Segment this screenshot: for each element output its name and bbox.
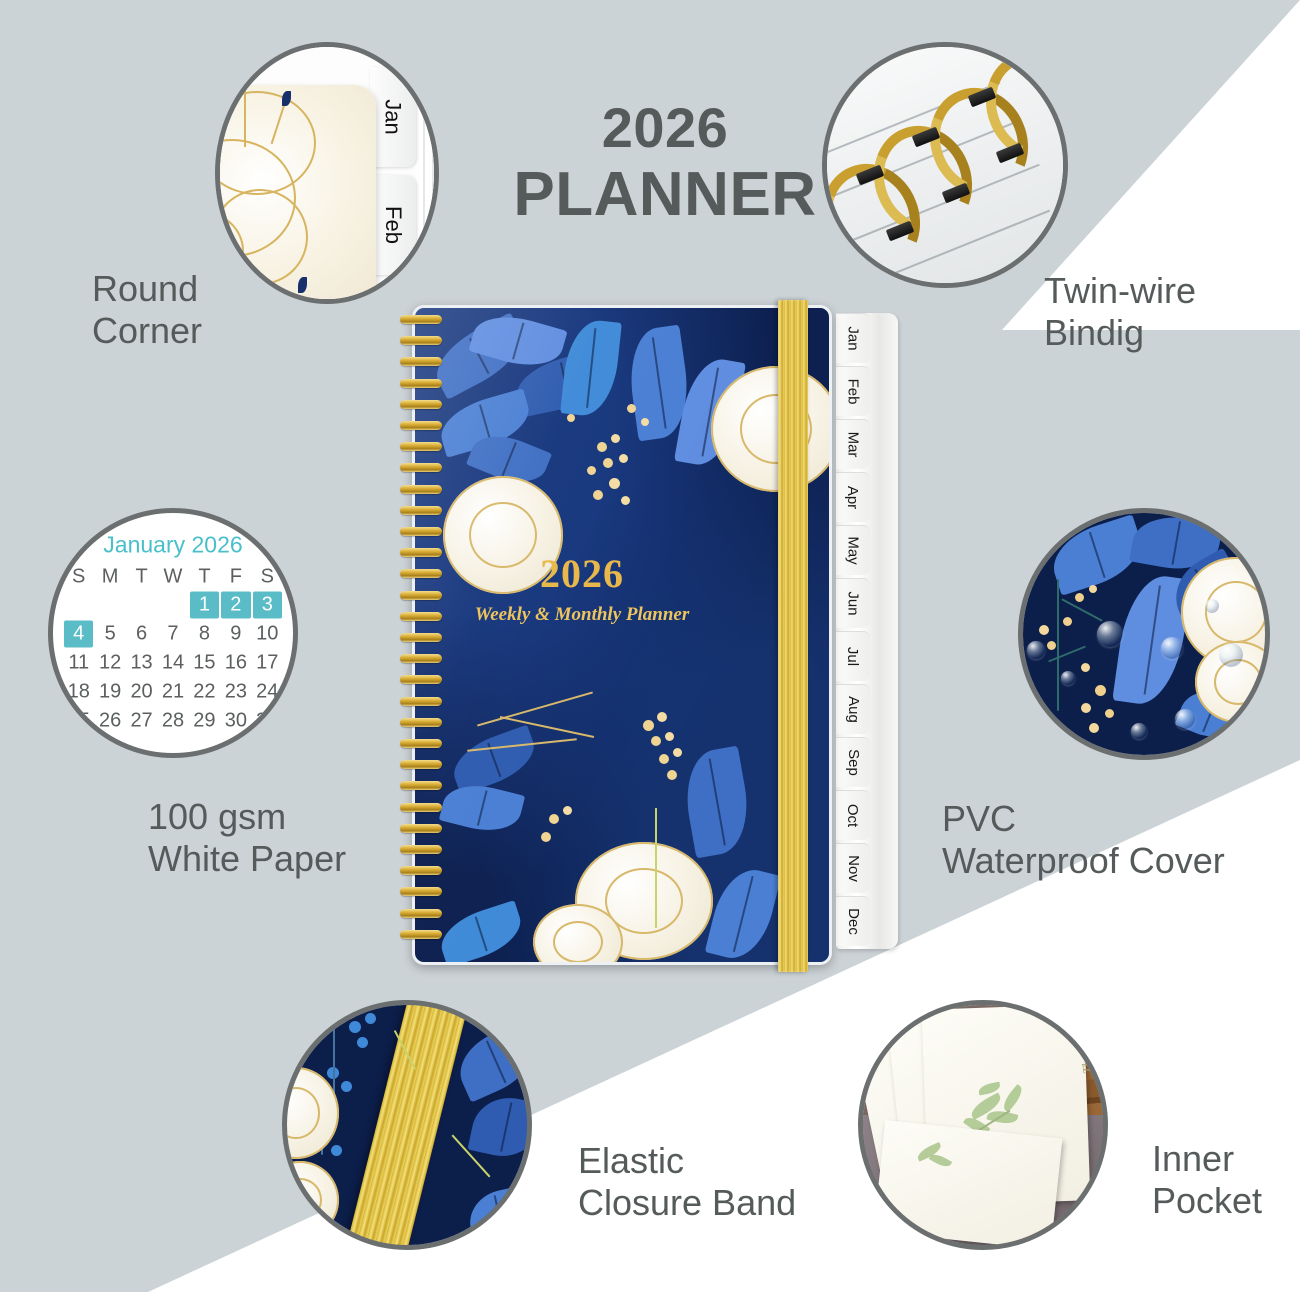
binding-coil xyxy=(400,633,442,642)
binding-coil xyxy=(400,866,442,875)
month-tab-feb[interactable]: Feb xyxy=(836,366,870,416)
binding-coil xyxy=(400,718,442,727)
binding-coil xyxy=(400,739,442,748)
callout-label-pvc-waterproof: PVC Waterproof Cover xyxy=(942,798,1225,883)
calendar-weekday-4: T xyxy=(190,565,219,590)
calendar-day-7[interactable]: 7 xyxy=(158,621,187,648)
month-tab-jan[interactable]: Jan xyxy=(836,313,870,363)
month-tab-jun[interactable]: Jun xyxy=(836,578,870,628)
title-line-product: PLANNER xyxy=(455,164,875,226)
planner-product-image: JanFebMarAprMayJunJulAugSepOctNovDec xyxy=(398,305,898,975)
month-tab-label: Sep xyxy=(844,749,861,776)
calendar-day-21[interactable]: 21 xyxy=(158,679,187,706)
month-tab-label: Apr xyxy=(845,486,862,509)
binding-coil xyxy=(400,930,442,939)
twin-wire-photo xyxy=(827,47,1063,283)
calendar-day-4[interactable]: 4 xyxy=(64,621,93,648)
month-tab-label: Jul xyxy=(845,647,862,666)
month-tab-label: Oct xyxy=(845,804,862,827)
calendar-weekday-1: M xyxy=(95,565,124,590)
month-tab-label: Jun xyxy=(845,591,862,615)
callout-image-twin-wire xyxy=(822,42,1068,288)
month-tab-label: Nov xyxy=(845,855,862,882)
elastic-closure-band xyxy=(778,300,808,972)
calendar-weekday-6: S xyxy=(253,565,282,590)
month-tab-nov[interactable]: Nov xyxy=(836,843,870,893)
pocket-card-bottom xyxy=(874,1120,1063,1250)
month-tab-oct[interactable]: Oct xyxy=(836,790,870,840)
month-tab-label: Aug xyxy=(844,696,861,723)
binding-coil xyxy=(400,803,442,812)
calendar-day-12[interactable]: 12 xyxy=(95,650,124,677)
callout-image-white-paper: January 2026 SMTWTFS00001234567891011121… xyxy=(48,508,298,758)
round-corner-photo: Jan Feb xyxy=(220,47,434,299)
calendar-day-2[interactable]: 2 xyxy=(221,592,250,619)
callout-label-twin-wire: Twin-wire Bindig xyxy=(1044,270,1196,355)
calendar-day-22[interactable]: 22 xyxy=(190,679,219,706)
month-tab-label: May xyxy=(845,536,862,564)
calendar-day-24[interactable]: 24 xyxy=(253,679,282,706)
calendar-day-27[interactable]: 27 xyxy=(127,708,156,735)
binding-coil xyxy=(400,527,442,536)
pvc-cover-photo xyxy=(1023,513,1265,755)
month-tab-label: Dec xyxy=(845,908,862,935)
planner-cover: 2026 Weekly & Monthly Planner xyxy=(412,305,832,965)
cover-year: 2026 xyxy=(415,550,749,597)
binding-coil xyxy=(400,824,442,833)
calendar-day-14[interactable]: 14 xyxy=(158,650,187,677)
calendar-day-13[interactable]: 13 xyxy=(127,650,156,677)
calendar-weekday-5: F xyxy=(221,565,250,590)
calendar-month-title: January 2026 xyxy=(64,532,282,559)
calendar-day-26[interactable]: 26 xyxy=(95,708,124,735)
binding-coil xyxy=(400,909,442,918)
binding-coil xyxy=(400,442,442,451)
month-tab-may[interactable]: May xyxy=(836,525,870,575)
month-tab-strip-closeup: Jan Feb xyxy=(370,67,439,304)
binding-coil xyxy=(400,760,442,769)
binding-coil xyxy=(400,654,442,663)
month-tab-mar[interactable]: Mar xyxy=(836,419,870,469)
month-tab-label: Jan xyxy=(845,326,862,350)
round-corner-tab-feb: Feb xyxy=(370,175,416,275)
binding-coil xyxy=(400,591,442,600)
calendar-day-29[interactable]: 29 xyxy=(190,708,219,735)
binding-coil xyxy=(400,463,442,472)
binding-coil xyxy=(400,485,442,494)
month-tab-sep[interactable]: Sep xyxy=(836,737,870,787)
binding-coil xyxy=(400,781,442,790)
binding-coil xyxy=(400,421,442,430)
calendar-grid: SMTWTFS000012345678910111213141516171819… xyxy=(64,565,282,735)
calendar-day-28[interactable]: 28 xyxy=(158,708,187,735)
month-tab-dec[interactable]: Dec xyxy=(836,896,870,946)
rounded-cover-corner xyxy=(215,85,376,304)
cover-subtitle: Weekly & Monthly Planner xyxy=(415,604,749,626)
infographic-canvas: 2026 PLANNER Jan Feb xyxy=(0,0,1300,1292)
calendar-day-25[interactable]: 25 xyxy=(64,708,93,735)
callout-label-white-paper: 100 gsm White Paper xyxy=(148,796,346,881)
calendar-day-20[interactable]: 20 xyxy=(127,679,156,706)
calendar-weekday-2: T xyxy=(127,565,156,590)
month-tab-aug[interactable]: Aug xyxy=(836,684,870,734)
callout-image-round-corner: Jan Feb xyxy=(215,42,439,304)
calendar-day-31[interactable]: 31 xyxy=(253,708,282,735)
binding-coil xyxy=(400,697,442,706)
binding-coil xyxy=(400,548,442,557)
binding-coil xyxy=(400,887,442,896)
callout-image-elastic-closure xyxy=(282,1000,532,1250)
mini-calendar: January 2026 SMTWTFS00001234567891011121… xyxy=(64,532,282,735)
round-corner-tab-jan: Jan xyxy=(370,67,416,167)
calendar-day-30[interactable]: 30 xyxy=(221,708,250,735)
title-line-year: 2026 xyxy=(455,100,875,156)
callout-image-pvc-waterproof xyxy=(1018,508,1270,760)
month-tab-label: Feb xyxy=(844,379,861,405)
calendar-day-10[interactable]: 10 xyxy=(253,621,282,648)
binding-coil xyxy=(400,675,442,684)
calendar-day-17[interactable]: 17 xyxy=(253,650,282,677)
calendar-day-11[interactable]: 11 xyxy=(64,650,93,677)
inner-pocket-photo: Thank you xyxy=(863,1005,1103,1245)
elastic-band-closeup xyxy=(335,1000,475,1250)
calendar-day-18[interactable]: 18 xyxy=(64,679,93,706)
calendar-day-5[interactable]: 5 xyxy=(95,621,124,648)
calendar-day-1[interactable]: 1 xyxy=(190,592,219,619)
elastic-band-photo xyxy=(287,1005,527,1245)
callout-label-inner-pocket: Inner Pocket xyxy=(1152,1138,1262,1223)
page-title: 2026 PLANNER xyxy=(455,100,875,226)
callout-image-inner-pocket: Thank you xyxy=(858,1000,1108,1250)
binding-coil xyxy=(400,569,442,578)
month-tab-jul[interactable]: Jul xyxy=(836,631,870,681)
month-tab-index: JanFebMarAprMayJunJulAugSepOctNovDec xyxy=(836,313,898,949)
calendar-day-3[interactable]: 3 xyxy=(253,592,282,619)
twin-wire-binding xyxy=(398,315,444,951)
month-tab-apr[interactable]: Apr xyxy=(836,472,870,522)
calendar-weekday-0: S xyxy=(64,565,93,590)
calendar-day-9[interactable]: 9 xyxy=(221,621,250,648)
calendar-day-23[interactable]: 23 xyxy=(221,679,250,706)
binding-coil xyxy=(400,612,442,621)
callout-label-elastic-closure: Elastic Closure Band xyxy=(578,1140,796,1225)
callout-label-round-corner: Round Corner xyxy=(92,268,202,353)
binding-coil xyxy=(400,315,442,324)
month-tab-label: Mar xyxy=(845,432,862,458)
calendar-weekday-3: W xyxy=(158,565,187,590)
binding-coil xyxy=(400,400,442,409)
calendar-day-16[interactable]: 16 xyxy=(221,650,250,677)
binding-coil xyxy=(400,506,442,515)
binding-coil xyxy=(400,379,442,388)
binding-coil xyxy=(400,336,442,345)
calendar-day-6[interactable]: 6 xyxy=(127,621,156,648)
cover-text-block: 2026 Weekly & Monthly Planner xyxy=(415,550,749,626)
calendar-day-15[interactable]: 15 xyxy=(190,650,219,677)
calendar-day-8[interactable]: 8 xyxy=(190,621,219,648)
binding-coil xyxy=(400,845,442,854)
calendar-day-19[interactable]: 19 xyxy=(95,679,124,706)
binding-coil xyxy=(400,357,442,366)
